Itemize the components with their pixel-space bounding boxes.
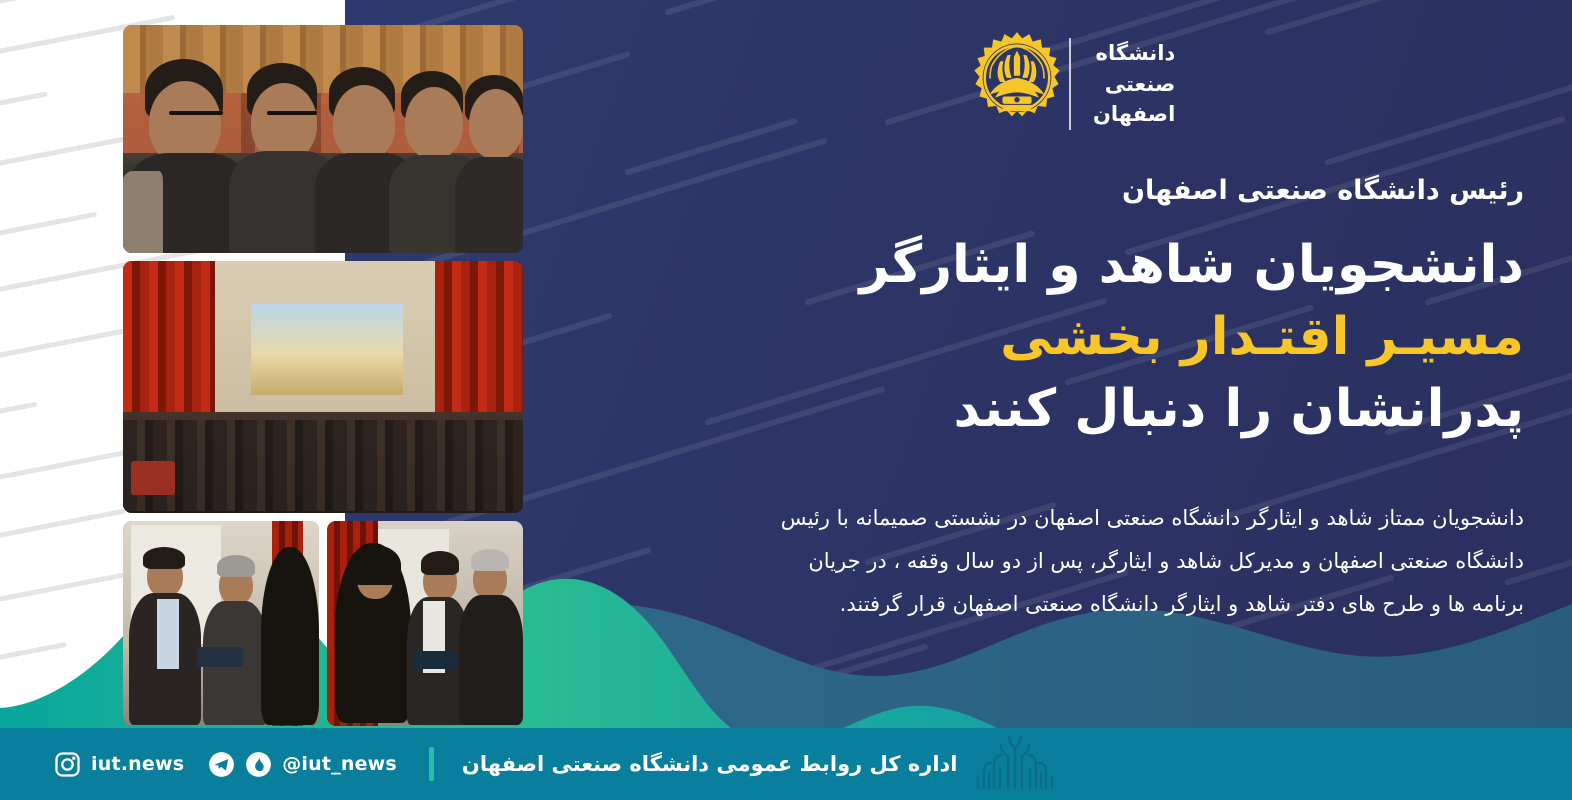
streak-4 bbox=[0, 212, 97, 253]
instagram-handle[interactable]: iut.news bbox=[91, 753, 184, 775]
streak-7 bbox=[0, 402, 37, 439]
headline-segment-1: مسیـر اقتـدار بخشی bbox=[1000, 307, 1524, 367]
instagram-icon[interactable] bbox=[54, 751, 81, 778]
social-instagram[interactable]: iut.news bbox=[54, 751, 184, 778]
body-text: دانشجویان ممتاز شاهد و ایثارگر دانشگاه ص… bbox=[762, 497, 1524, 626]
photo-award-right bbox=[123, 521, 319, 726]
headline-segment-2: پدرانشان را دنبال کنند bbox=[953, 379, 1524, 439]
photo-group bbox=[123, 261, 523, 513]
streak-2 bbox=[0, 91, 48, 125]
copy-block: رئیس دانشگاه صنعتی اصفهان دانشجویان شاهد… bbox=[762, 175, 1524, 626]
brand-lockup: دانشگاه صنعتی اصفهان bbox=[941, 30, 1175, 138]
wheat-ornament-icon bbox=[972, 734, 1058, 794]
navy-streak-1 bbox=[664, 0, 1163, 16]
footer-divider bbox=[429, 747, 434, 781]
messenger-handle[interactable]: @iut_news bbox=[282, 753, 397, 775]
telegram-icon[interactable] bbox=[208, 751, 235, 778]
photo-audience bbox=[123, 25, 523, 253]
brand-line-3: اصفهان bbox=[1093, 99, 1175, 129]
bale-icon[interactable] bbox=[245, 751, 272, 778]
photo-collage bbox=[123, 25, 523, 726]
headline: دانشجویان شاهد و ایثارگر مسیـر اقتـدار ب… bbox=[762, 230, 1524, 445]
footer-title: اداره کل روابط عمومی دانشگاه صنعتی اصفها… bbox=[462, 752, 958, 776]
navy-streak-3 bbox=[1264, 0, 1572, 36]
photo-row-bottom bbox=[123, 521, 523, 726]
headline-segment-0: دانشجویان شاهد و ایثارگر bbox=[860, 235, 1524, 295]
brand-wordmark: دانشگاه صنعتی اصفهان bbox=[1071, 38, 1175, 129]
navy-streak-5 bbox=[624, 118, 798, 176]
iut-gear-emblem-icon bbox=[965, 30, 1069, 138]
brand-divider bbox=[1069, 38, 1071, 130]
poster-canvas: دانشگاه صنعتی اصفهان bbox=[0, 0, 1572, 800]
eyebrow-text: رئیس دانشگاه صنعتی اصفهان bbox=[762, 175, 1524, 206]
photo-award-left bbox=[327, 521, 523, 726]
brand-line-2: صنعتی bbox=[1093, 69, 1175, 99]
footer-bar: iut.news @iut_news اداره کل روابط عمومی … bbox=[0, 728, 1572, 800]
brand-line-1: دانشگاه bbox=[1093, 38, 1175, 68]
social-messengers[interactable]: @iut_news bbox=[208, 751, 397, 778]
